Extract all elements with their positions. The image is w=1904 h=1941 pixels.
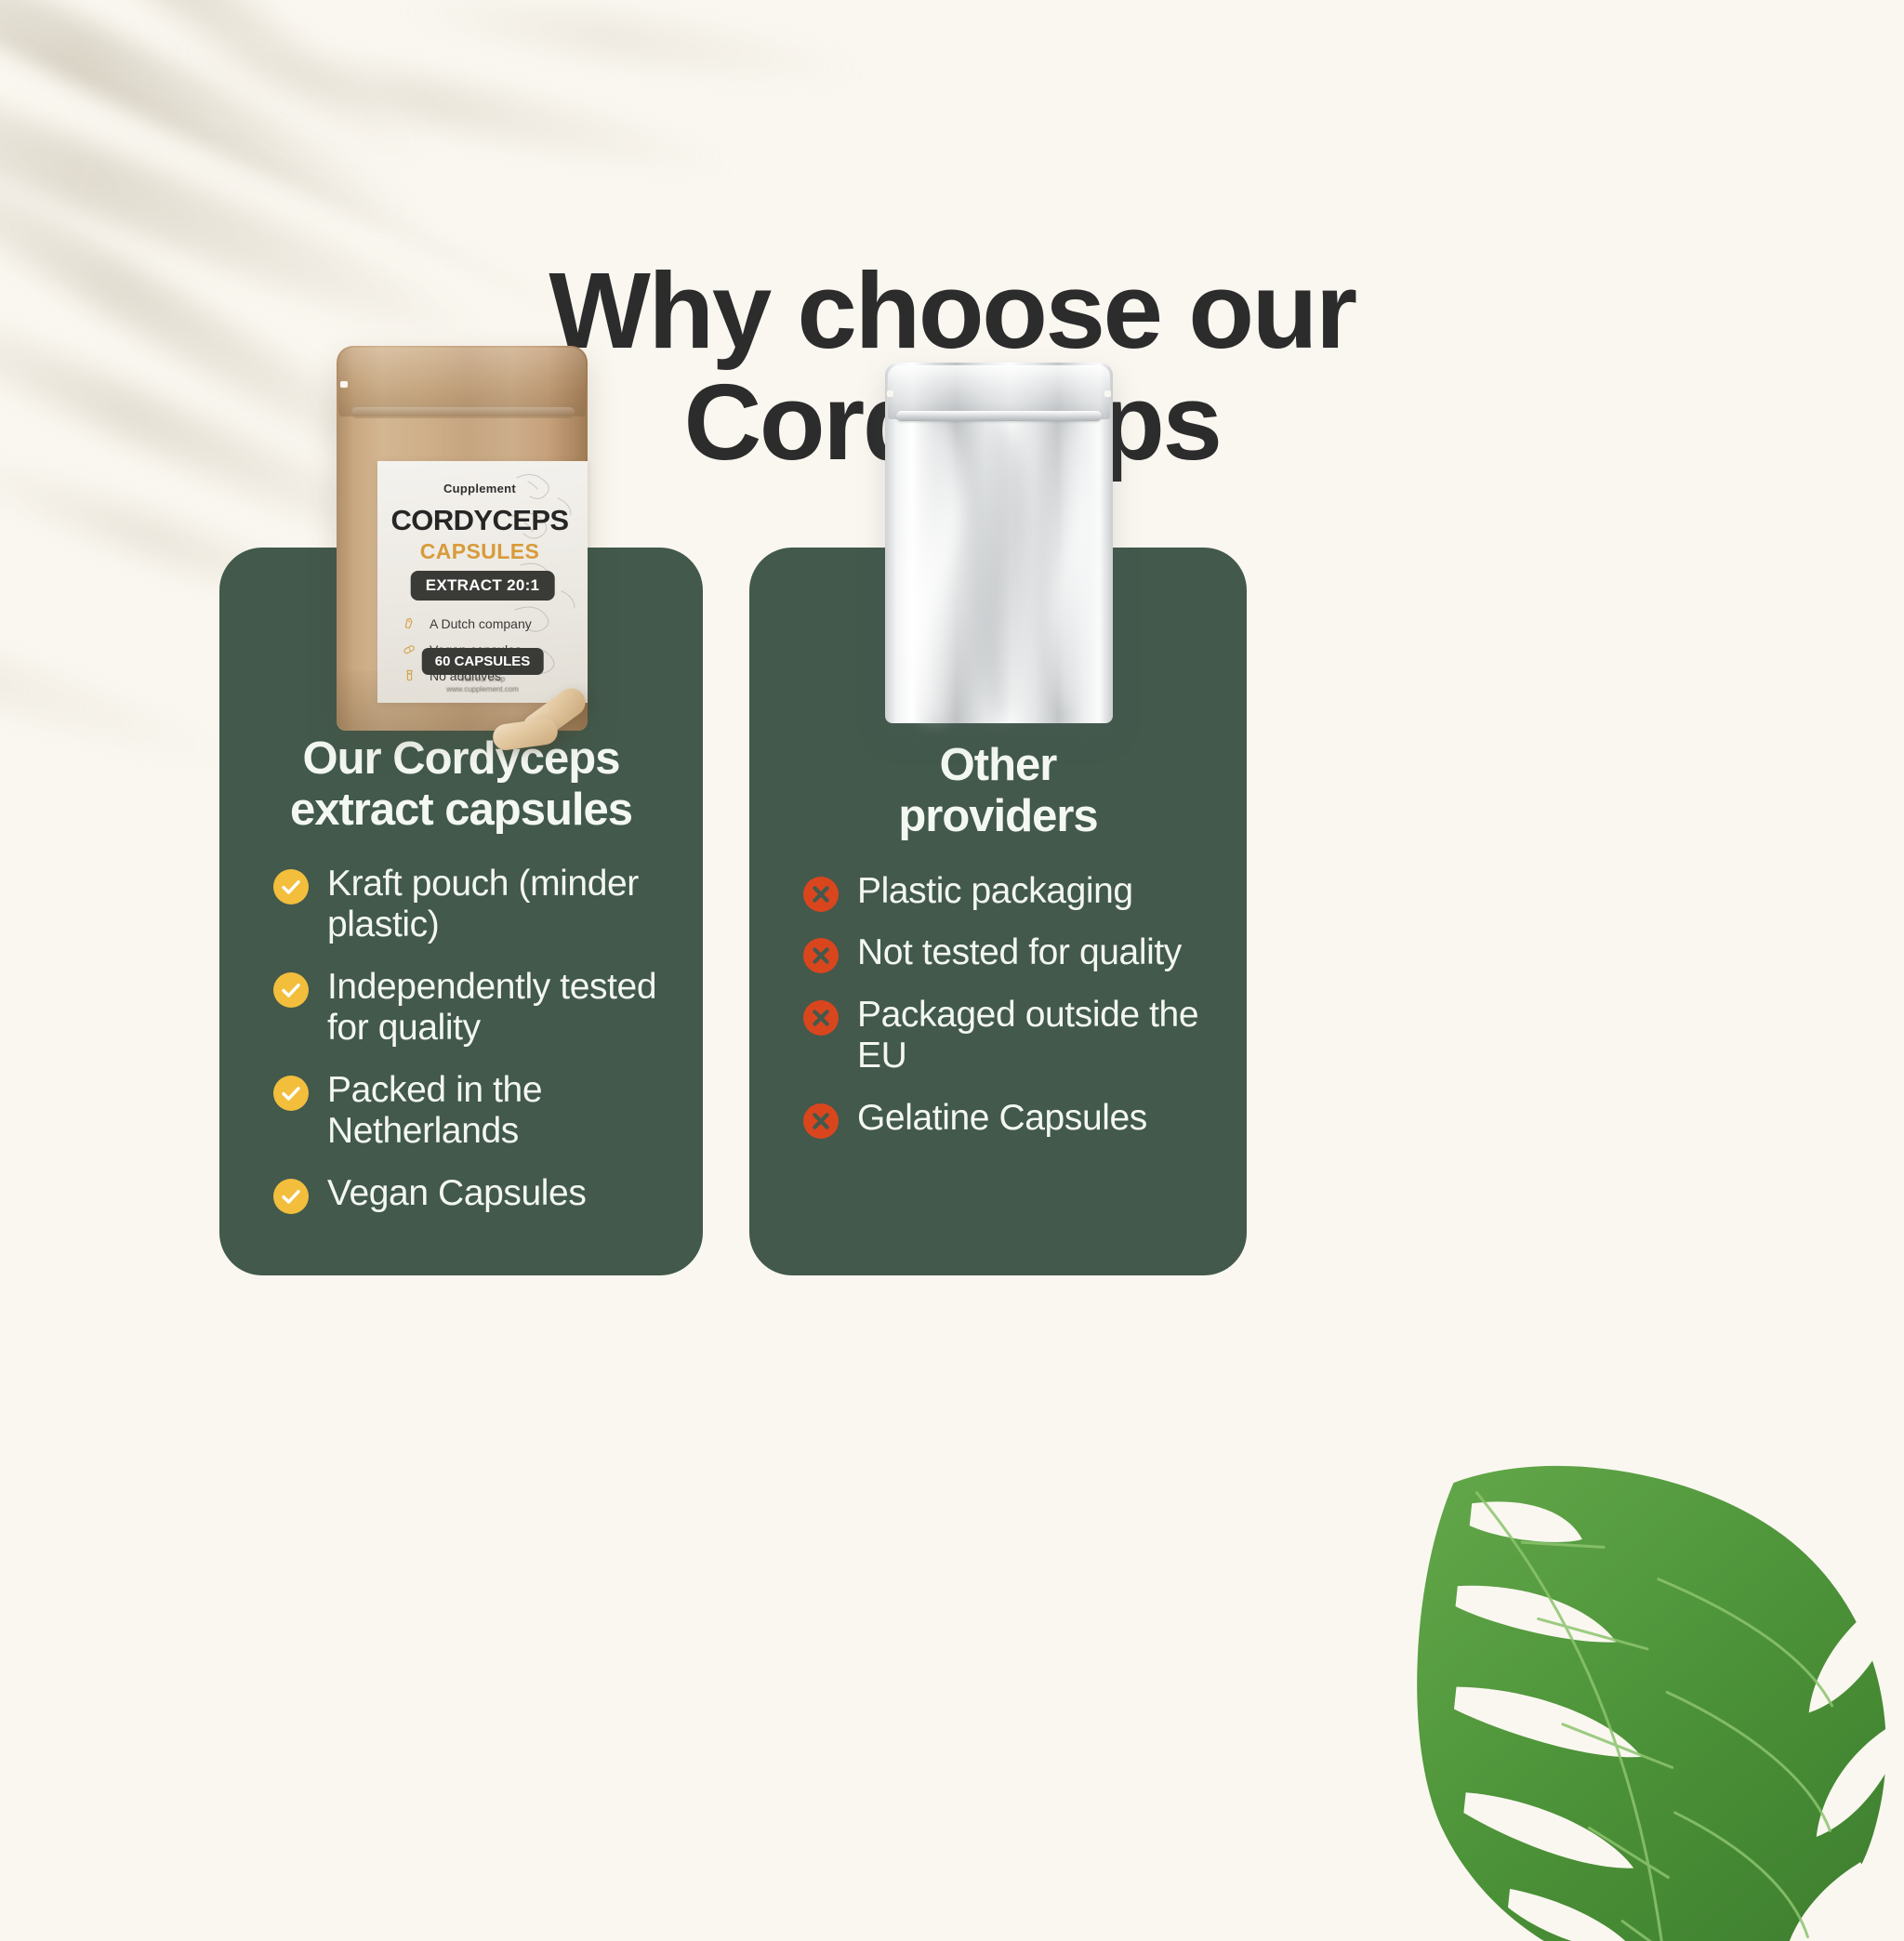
cross-circle-icon (803, 938, 839, 973)
list-item: Not tested for quality (803, 932, 1224, 973)
list-item-label: Not tested for quality (857, 932, 1182, 973)
list-item-label: Packed in the Netherlands (327, 1070, 666, 1153)
pouch-extract-badge: EXTRACT 20:1 (411, 571, 555, 601)
pouch-title: CORDYCEPS (377, 504, 582, 537)
cross-circle-icon (803, 877, 839, 912)
list-item-label: Packaged outside the EU (857, 995, 1224, 1077)
other-providers-heading: Other providers (749, 740, 1247, 842)
list-item: Vegan Capsules (273, 1173, 666, 1214)
list-item-label: Gelatine Capsules (857, 1098, 1147, 1139)
silver-pouch-competitor-image (885, 363, 1113, 723)
list-item: Independently tested for quality (273, 967, 666, 1050)
cross-circle-icon (803, 1000, 839, 1036)
pouch-feature-label: A Dutch company (430, 616, 532, 631)
benefits-list: Kraft pouch (minder plastic)Independentl… (273, 864, 666, 1214)
pouch-shop-url: Visit our shop www.cupplement.com (377, 675, 588, 695)
check-circle-icon (273, 869, 309, 904)
list-item: Kraft pouch (minder plastic) (273, 864, 666, 946)
kraft-pouch-product-image: Cupplement CORDYCEPS CAPSULES EXTRACT 20… (337, 346, 588, 731)
pouch-feature-row: A Dutch company (402, 615, 532, 631)
pouch-shop-line-2: www.cupplement.com (446, 685, 519, 693)
capsule-icon (402, 641, 417, 657)
pouch-shop-line-1: Visit our shop (460, 675, 505, 683)
page-title-line-1: Why choose our (549, 250, 1355, 371)
check-circle-icon (273, 972, 309, 1008)
check-circle-icon (273, 1179, 309, 1214)
list-item-label: Plastic packaging (857, 871, 1133, 912)
drawbacks-list: Plastic packagingNot tested for qualityP… (803, 871, 1224, 1139)
list-item-label: Kraft pouch (minder plastic) (327, 864, 666, 946)
pouch-brand: Cupplement (377, 482, 582, 495)
list-item: Plastic packaging (803, 871, 1224, 912)
our-product-heading-line-1: Our Cordyceps (303, 733, 620, 784)
list-item: Packed in the Netherlands (273, 1070, 666, 1153)
pouch-subtitle: CAPSULES (377, 539, 582, 564)
cross-circle-icon (803, 1103, 839, 1139)
netherlands-icon (402, 615, 417, 631)
pouch-label: Cupplement CORDYCEPS CAPSULES EXTRACT 20… (377, 461, 588, 703)
other-providers-heading-line-1: Other (940, 740, 1057, 790)
list-item-label: Independently tested for quality (327, 967, 666, 1050)
other-providers-heading-line-2: providers (898, 791, 1097, 841)
our-product-heading: Our Cordyceps extract capsules (219, 733, 703, 836)
list-item-label: Vegan Capsules (327, 1173, 586, 1214)
list-item: Packaged outside the EU (803, 995, 1224, 1077)
check-circle-icon (273, 1076, 309, 1111)
list-item: Gelatine Capsules (803, 1098, 1224, 1139)
our-product-heading-line-2: extract capsules (290, 785, 632, 835)
monstera-leaf-decoration (1355, 1420, 1904, 1941)
pouch-capsule-count-badge: 60 CAPSULES (422, 648, 544, 675)
